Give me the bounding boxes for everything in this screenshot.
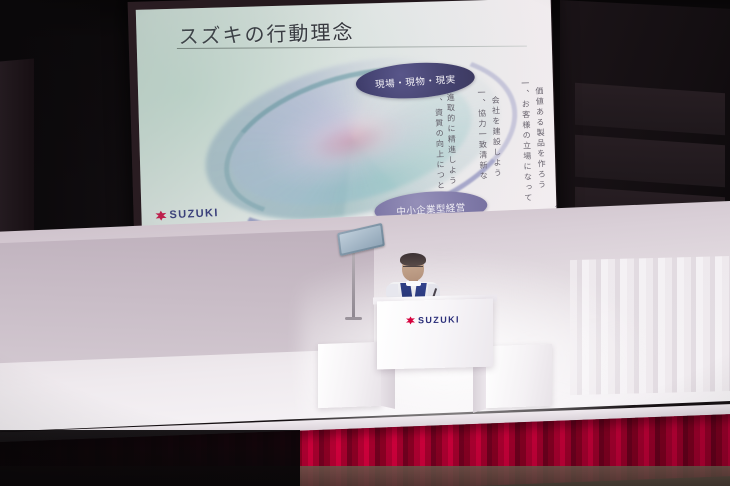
suzuki-wordmark: SUZUKI bbox=[418, 314, 460, 325]
speaker-hair bbox=[400, 253, 426, 266]
suzuki-s-mark-icon bbox=[406, 316, 415, 324]
stage-block-right bbox=[486, 344, 552, 408]
teleprompter-base bbox=[345, 317, 362, 320]
podium bbox=[377, 299, 493, 370]
glasses-icon bbox=[403, 266, 423, 272]
photo-scene: スズキの行動理念 一、資質の向上につとめ常に 進取的に精進しよう 一、協力一致清… bbox=[0, 0, 730, 486]
teleprompter-pole bbox=[352, 247, 355, 319]
stage-block-left bbox=[318, 342, 381, 408]
floor-shadow bbox=[0, 430, 300, 486]
suzuki-logo-podium: SUZUKI bbox=[406, 314, 460, 325]
